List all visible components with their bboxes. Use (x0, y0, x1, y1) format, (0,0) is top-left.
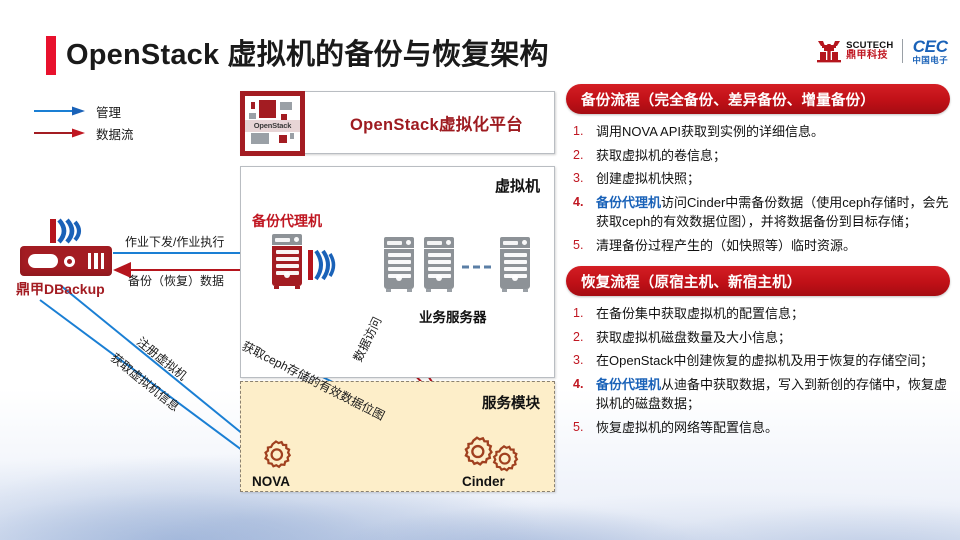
step-number: 1. (566, 122, 596, 142)
step-text: 清理备份过程产生的（如快照等）临时资源。 (596, 236, 950, 256)
openstack-logo-icon: OpenStack (240, 91, 305, 156)
legend-label-management: 管理 (96, 102, 121, 121)
procedure-panel: 备份流程（完全备份、差异备份、增量备份） 1. 调用NOVA API获取到实例的… (566, 84, 950, 441)
step-number: 1. (566, 304, 596, 324)
list-item: 2. 获取虚拟机的卷信息； (566, 146, 950, 166)
step-number: 5. (566, 418, 596, 438)
cec-cn-text: 中国电子 (912, 56, 948, 65)
scutech-wordmark: SCUTECH 鼎甲科技 (846, 41, 893, 61)
recover-step-list: 1. 在备份集中获取虚拟机的配置信息； 2. 获取虚拟机磁盘数量及大小信息； 3… (566, 304, 950, 437)
dbackup-appliance: 鼎甲DBackup (20, 246, 112, 276)
service-module-zone-label: 服务模块 (482, 392, 540, 413)
business-servers-caption: 业务服务器 (419, 306, 487, 326)
legend-item-dataflow: 数据流 (34, 122, 134, 144)
business-server-icon-2 (424, 237, 454, 293)
dbackup-waves-icon (50, 218, 84, 244)
backup-section: 备份流程（完全备份、差异备份、增量备份） 1. 调用NOVA API获取到实例的… (566, 84, 950, 255)
dbackup-chassis-icon (20, 246, 112, 276)
step-text: 创建虚拟机快照； (596, 169, 950, 189)
edge-label-job-dispatch: 作业下发/作业执行 (125, 233, 224, 250)
step-number: 2. (566, 146, 596, 166)
list-item: 3. 在OpenStack中创建恢复的虚拟机及用于恢复的存储空间； (566, 351, 950, 371)
step-text: 调用NOVA API获取到实例的详细信息。 (596, 122, 950, 142)
arrow-right-red-icon (34, 128, 86, 138)
dbackup-cn-text: 鼎甲 (16, 282, 44, 298)
backup-agent-label: 备份代理机 (252, 211, 322, 231)
recover-section: 恢复流程（原宿主机、新宿主机） 1. 在备份集中获取虚拟机的配置信息； 2. 获… (566, 266, 950, 437)
step-number: 4. (566, 193, 596, 213)
list-item: 5. 恢复虚拟机的网络等配置信息。 (566, 418, 950, 438)
step-text: 备份代理机从迪备中获取数据，写入到新创的存储中，恢复虚拟机的磁盘数据； (596, 375, 950, 414)
brand-logos: SCUTECH 鼎甲科技 CEC 中国电子 (816, 38, 948, 65)
arrow-right-blue-icon (34, 106, 86, 116)
platform-title: OpenStack虚拟化平台 (319, 92, 554, 153)
step-number: 3. (566, 169, 596, 189)
nova-label: NOVA (252, 474, 290, 489)
cec-logo: CEC 中国电子 (912, 38, 948, 65)
cinder-label: Cinder (462, 474, 505, 489)
backup-agent-server-icon (272, 234, 302, 290)
list-item: 1. 在备份集中获取虚拟机的配置信息； (566, 304, 950, 324)
scutech-mark-icon (816, 39, 842, 63)
dbackup-en-text: DBackup (44, 281, 105, 297)
list-item: 4. 备份代理机访问Cinder中需备份数据（使用ceph存储时，会先获取cep… (566, 193, 950, 232)
server-ellipsis-icon (462, 257, 494, 275)
step-number: 3. (566, 351, 596, 371)
business-server-icon-1 (384, 237, 414, 293)
step-text: 获取虚拟机磁盘数量及大小信息； (596, 328, 950, 348)
step-text: 备份代理机访问Cinder中需备份数据（使用ceph存储时，会先获取ceph的有… (596, 193, 950, 232)
openstack-logo-text: OpenStack (254, 121, 291, 130)
step-number: 4. (566, 375, 596, 395)
list-item: 2. 获取虚拟机磁盘数量及大小信息； (566, 328, 950, 348)
legend-label-dataflow: 数据流 (96, 124, 134, 143)
nova-gear-icon (258, 438, 294, 479)
backup-step-list: 1. 调用NOVA API获取到实例的详细信息。 2. 获取虚拟机的卷信息； 3… (566, 122, 950, 255)
step-text: 在备份集中获取虚拟机的配置信息； (596, 304, 950, 324)
dbackup-caption: 鼎甲DBackup (16, 279, 105, 299)
list-item: 3. 创建虚拟机快照； (566, 169, 950, 189)
step-number: 5. (566, 236, 596, 256)
scutech-logo: SCUTECH 鼎甲科技 (816, 39, 893, 63)
page-title: OpenStack 虚拟机的备份与恢复架构 (46, 33, 549, 77)
title-accent-bar (46, 36, 56, 75)
step-highlight: 备份代理机 (596, 195, 661, 210)
legend: 管理 数据流 (34, 100, 134, 144)
recover-section-header: 恢复流程（原宿主机、新宿主机） (566, 266, 950, 296)
step-text: 恢复虚拟机的网络等配置信息。 (596, 418, 950, 438)
scutech-cn-text: 鼎甲科技 (846, 51, 893, 61)
business-server-icon-3 (500, 237, 530, 293)
virtual-machine-zone-label: 虚拟机 (495, 175, 540, 196)
step-text: 在OpenStack中创建恢复的虚拟机及用于恢复的存储空间； (596, 351, 950, 371)
step-text: 获取虚拟机的卷信息； (596, 146, 950, 166)
step-number: 2. (566, 328, 596, 348)
edge-label-backup-data: 备份（恢复）数据 (128, 272, 224, 289)
list-item: 4. 备份代理机从迪备中获取数据，写入到新创的存储中，恢复虚拟机的磁盘数据； (566, 375, 950, 414)
cec-en-text: CEC (913, 38, 948, 56)
list-item: 1. 调用NOVA API获取到实例的详细信息。 (566, 122, 950, 142)
legend-item-management: 管理 (34, 100, 134, 122)
backup-section-header: 备份流程（完全备份、差异备份、增量备份） (566, 84, 950, 114)
list-item: 5. 清理备份过程产生的（如快照等）临时资源。 (566, 236, 950, 256)
openstack-platform-box: OpenStack OpenStack虚拟化平台 (240, 91, 555, 154)
logo-divider (902, 39, 903, 63)
agent-waves-icon (308, 248, 338, 282)
step-highlight: 备份代理机 (596, 377, 661, 392)
title-text: OpenStack 虚拟机的备份与恢复架构 (66, 33, 549, 77)
